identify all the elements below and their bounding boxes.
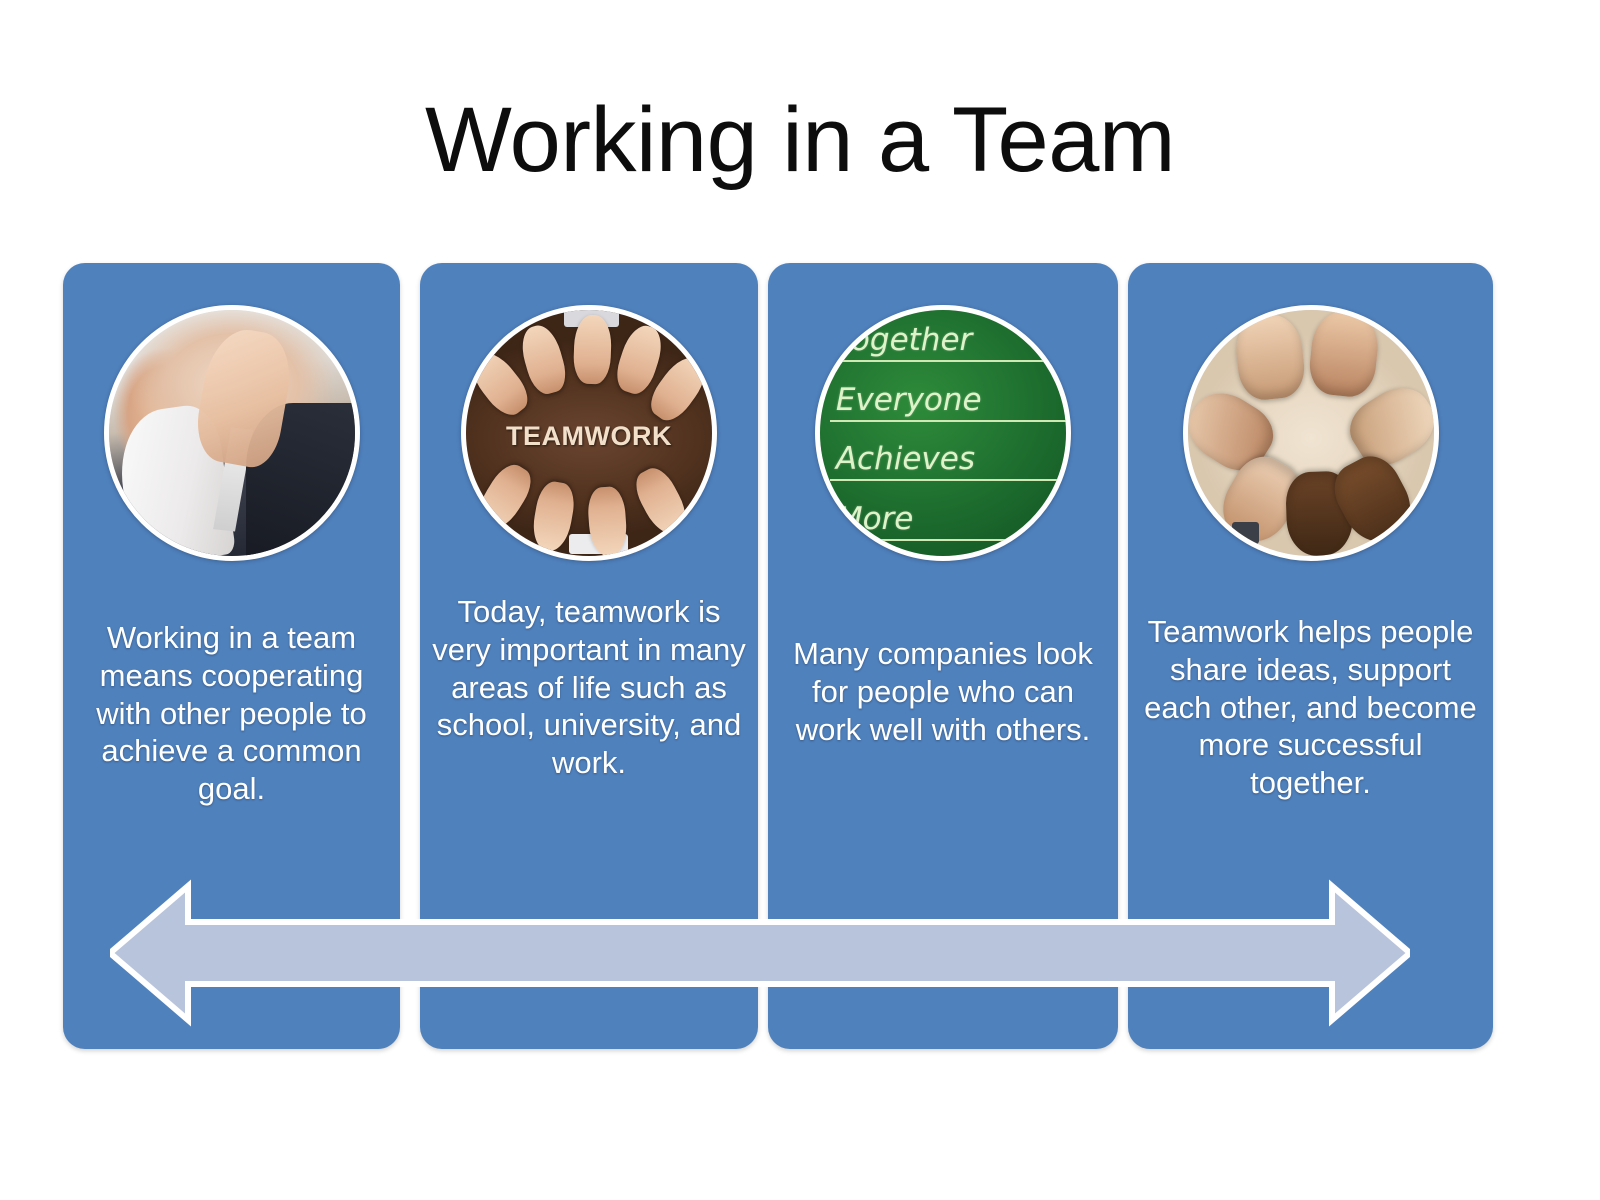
card-3-text: Many companies look for people who can w…	[776, 635, 1110, 748]
card-3[interactable]: Together Everyone Achieves More Many com…	[768, 263, 1118, 1049]
hand-shape	[470, 458, 538, 536]
chalk-line-together: Together	[830, 325, 1066, 362]
suit-shape	[246, 403, 359, 561]
card-1-text: Working in a team means cooperating with…	[71, 619, 392, 808]
fists-circle-illustration	[1188, 310, 1434, 556]
card-1[interactable]: Working in a team means cooperating with…	[63, 263, 400, 1049]
hand-shape	[516, 321, 570, 397]
cards-row: Working in a team means cooperating with…	[63, 263, 1493, 1049]
card-4-text: Teamwork helps people share ideas, suppo…	[1136, 613, 1485, 802]
chalkboard-team-acronym-photo: Together Everyone Achieves More	[815, 305, 1071, 561]
hand-shape	[629, 463, 694, 541]
fist-shape	[1232, 312, 1307, 402]
chalkboard-lines: Together Everyone Achieves More	[830, 325, 1066, 541]
hand-shape	[573, 314, 612, 384]
chalkboard-illustration: Together Everyone Achieves More	[820, 310, 1066, 556]
card-2[interactable]: TEAMWORK Today, teamwork is very importa…	[420, 263, 758, 1049]
chalk-line-more: More	[830, 504, 1066, 541]
teamwork-word-photo: TEAMWORK	[461, 305, 717, 561]
team-high-five-photo	[104, 305, 360, 561]
circle-of-fists-photo	[1183, 305, 1439, 561]
page-title: Working in a Team	[0, 92, 1600, 189]
teamwork-photo-caption: TEAMWORK	[466, 421, 712, 452]
card-4[interactable]: Teamwork helps people share ideas, suppo…	[1128, 263, 1493, 1049]
chalk-line-achieves: Achieves	[830, 444, 1066, 481]
high-five-illustration	[109, 310, 355, 556]
teamwork-table-illustration: TEAMWORK	[466, 310, 712, 556]
fist-shape	[1306, 309, 1381, 399]
card-2-text: Today, teamwork is very important in man…	[428, 593, 750, 782]
wristwatch-shape	[1232, 522, 1259, 544]
slide-canvas: Working in a Team Working in a team mean…	[0, 0, 1600, 1200]
chalk-line-everyone: Everyone	[830, 385, 1066, 422]
